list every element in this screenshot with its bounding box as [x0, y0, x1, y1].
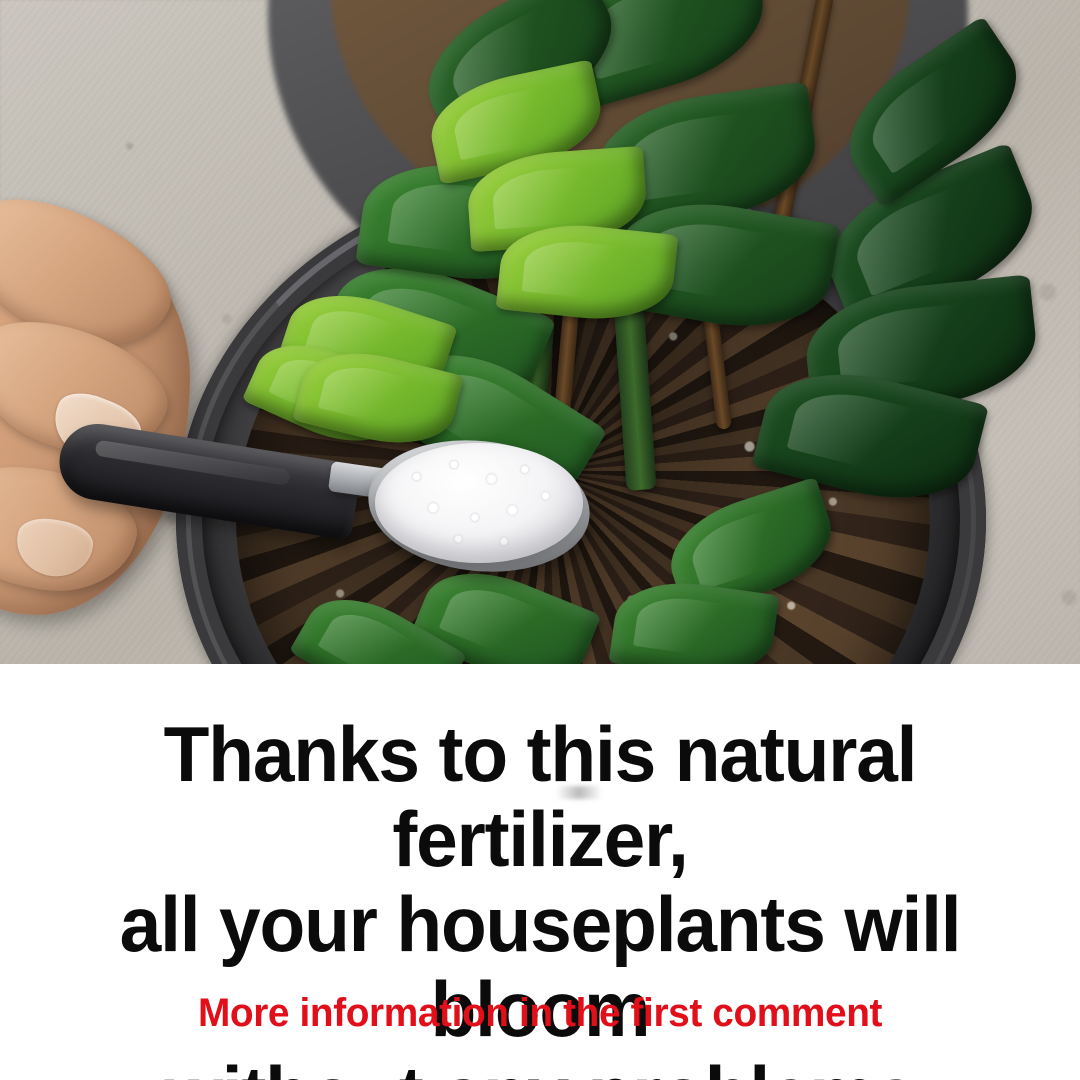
caption-area: Thanks to this natural fertilizer, all y…: [0, 664, 1080, 1080]
compression-artifact: [556, 786, 602, 799]
social-post: Thanks to this natural fertilizer, all y…: [0, 0, 1080, 1080]
fertilizer-powder: [375, 443, 583, 563]
call-to-action-text: More information in the first comment: [16, 990, 1064, 1036]
plant-stem: [613, 299, 656, 491]
hero-photo: [0, 0, 1080, 664]
